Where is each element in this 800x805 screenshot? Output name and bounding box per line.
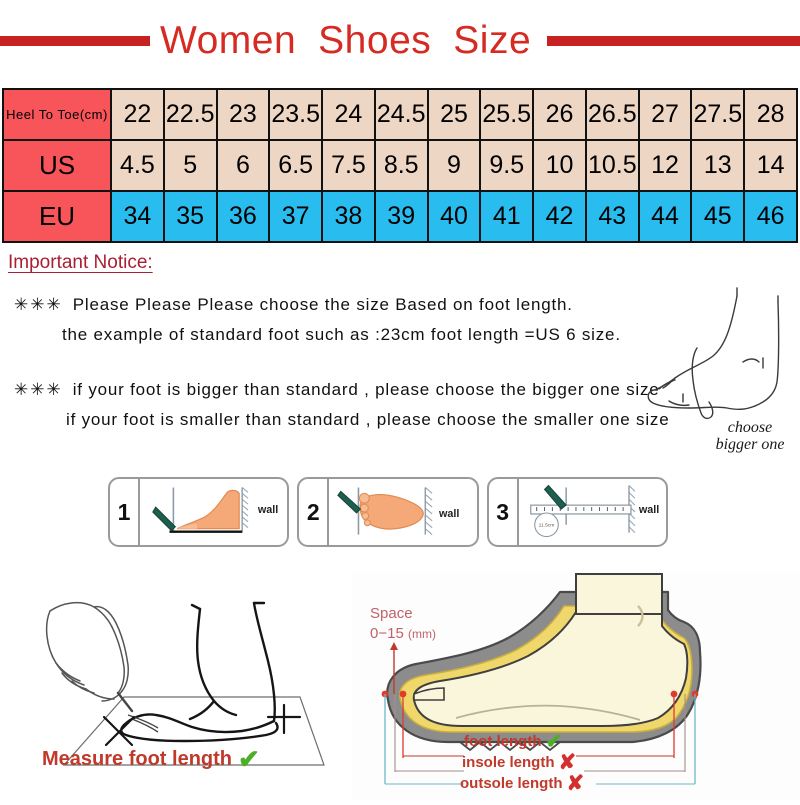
cell-eu: 44	[639, 191, 692, 242]
notice-line-2: the example of standard foot such as :23…	[62, 325, 621, 345]
legend-row-outsole-length: outsole length ✘	[460, 773, 584, 794]
space-value: 0−15	[370, 625, 404, 642]
cell-cm: 23.5	[269, 89, 322, 140]
cell-cm: 25.5	[480, 89, 533, 140]
cell-eu: 39	[375, 191, 428, 242]
page-title-banner: WomenShoesSize	[0, 16, 800, 66]
cell-cm: 27	[639, 89, 692, 140]
red-cross-icon: ✘	[559, 752, 577, 773]
ruler-measure-icon: 11.5cm wall	[519, 479, 666, 545]
legend-label: foot length	[464, 732, 541, 752]
cell-us: 9	[428, 140, 481, 191]
cell-eu: 42	[533, 191, 586, 242]
step-number: 3	[489, 479, 519, 545]
measure-foot-length-label: Measure foot length ✔	[42, 746, 260, 772]
title-word-3: Size	[453, 19, 531, 62]
cell-us: 10	[533, 140, 586, 191]
step-panel-3: 3	[487, 477, 668, 547]
page-title: WomenShoesSize	[150, 19, 541, 63]
step-3-wall-label: wall	[637, 504, 658, 516]
cell-cm: 22	[111, 89, 164, 140]
foot-profile-caption: choose bigger one	[700, 420, 800, 454]
title-word-2: Shoes	[318, 19, 431, 62]
measurement-steps: 1 wall 2	[108, 477, 668, 547]
step-1-illustration: wall	[140, 479, 287, 545]
notice-line-3-text: if your foot is bigger than standard , p…	[73, 380, 660, 399]
cell-cm: 26.5	[586, 89, 639, 140]
space-label-line-1: Space	[370, 604, 436, 624]
notice-line-3: ✳✳✳if your foot is bigger than standard …	[14, 380, 660, 400]
notice-line-1-text: Please Please Please choose the size Bas…	[73, 295, 573, 314]
cell-us: 8.5	[375, 140, 428, 191]
green-check-icon: ✔	[238, 746, 260, 772]
legend-row-foot-length: foot length ✔	[460, 732, 584, 752]
cell-us: 4.5	[111, 140, 164, 191]
step-panel-1: 1 wall	[108, 477, 289, 547]
size-conversion-table: Heel To Toe(cm) 22 22.5 23 23.5 24 24.5 …	[2, 88, 798, 243]
cell-us: 5	[164, 140, 217, 191]
foot-caption-line-1: choose	[700, 420, 800, 437]
cell-eu: 45	[691, 191, 744, 242]
cell-cm: 22.5	[164, 89, 217, 140]
cell-us: 13	[691, 140, 744, 191]
measure-label-text: Measure foot length	[42, 748, 232, 771]
cell-cm: 24	[322, 89, 375, 140]
cell-cm: 27.5	[691, 89, 744, 140]
step-panel-2: 2 wall	[297, 477, 478, 547]
cell-cm: 23	[217, 89, 270, 140]
cell-eu: 43	[586, 191, 639, 242]
length-legend: foot length ✔ insole length ✘ outsole le…	[460, 732, 584, 794]
cell-cm: 24.5	[375, 89, 428, 140]
cell-eu: 35	[164, 191, 217, 242]
legend-label: insole length	[462, 753, 555, 773]
row-header-us: US	[3, 140, 111, 191]
green-check-icon: ✔	[545, 732, 562, 752]
title-word-1: Women	[160, 19, 296, 62]
cell-eu: 36	[217, 191, 270, 242]
notice-line-4: if your foot is smaller than standard , …	[66, 410, 669, 430]
cell-us: 7.5	[322, 140, 375, 191]
cell-eu: 46	[744, 191, 797, 242]
step-2-wall-label: wall	[438, 508, 459, 520]
notice-line-1: ✳✳✳Please Please Please choose the size …	[14, 295, 573, 315]
cell-eu: 40	[428, 191, 481, 242]
important-notice-heading: Important Notice:	[8, 252, 153, 274]
cell-cm: 26	[533, 89, 586, 140]
shoe-cross-section-diagram: Space 0−15 (mm) foot length ✔ insole len…	[352, 572, 800, 800]
title-bar-left	[0, 36, 150, 46]
cell-cm: 28	[744, 89, 797, 140]
legend-row-insole-length: insole length ✘	[460, 752, 584, 773]
notice-stars: ✳✳✳	[14, 295, 63, 314]
cell-cm: 25	[428, 89, 481, 140]
row-header-heel-to-toe: Heel To Toe(cm)	[3, 89, 111, 140]
table-row: EU 34 35 36 37 38 39 40 41 42 43 44 45 4…	[3, 191, 797, 242]
row-header-eu: EU	[3, 191, 111, 242]
cell-eu: 37	[269, 191, 322, 242]
space-annotation: Space 0−15 (mm)	[370, 604, 436, 645]
notice-stars: ✳✳✳	[14, 380, 63, 399]
step-2-illustration: wall	[329, 479, 476, 545]
space-label-line-2: 0−15 (mm)	[370, 624, 436, 644]
step-1-wall-label: wall	[257, 504, 278, 516]
measure-foot-length-illustration: Measure foot length ✔	[28, 565, 358, 790]
title-bar-right	[547, 36, 800, 46]
step-number: 2	[299, 479, 329, 545]
top-foot-wall-icon: wall	[329, 479, 476, 545]
cell-us: 6	[217, 140, 270, 191]
cell-eu: 34	[111, 191, 164, 242]
table-row: US 4.5 5 6 6.5 7.5 8.5 9 9.5 10 10.5 12 …	[3, 140, 797, 191]
cell-us: 12	[639, 140, 692, 191]
space-unit: (mm)	[408, 627, 436, 641]
legend-label: outsole length	[460, 774, 563, 794]
cell-us: 9.5	[480, 140, 533, 191]
step-3-illustration: 11.5cm wall	[519, 479, 666, 545]
cell-eu: 41	[480, 191, 533, 242]
cell-us: 10.5	[586, 140, 639, 191]
foot-caption-line-2: bigger one	[700, 437, 800, 454]
step-3-callout: 11.5cm	[538, 523, 554, 529]
cell-us: 6.5	[269, 140, 322, 191]
table-row: Heel To Toe(cm) 22 22.5 23 23.5 24 24.5 …	[3, 89, 797, 140]
red-cross-icon: ✘	[567, 773, 585, 794]
side-foot-wall-icon: wall	[140, 479, 287, 545]
cell-us: 14	[744, 140, 797, 191]
cell-eu: 38	[322, 191, 375, 242]
step-number: 1	[110, 479, 140, 545]
